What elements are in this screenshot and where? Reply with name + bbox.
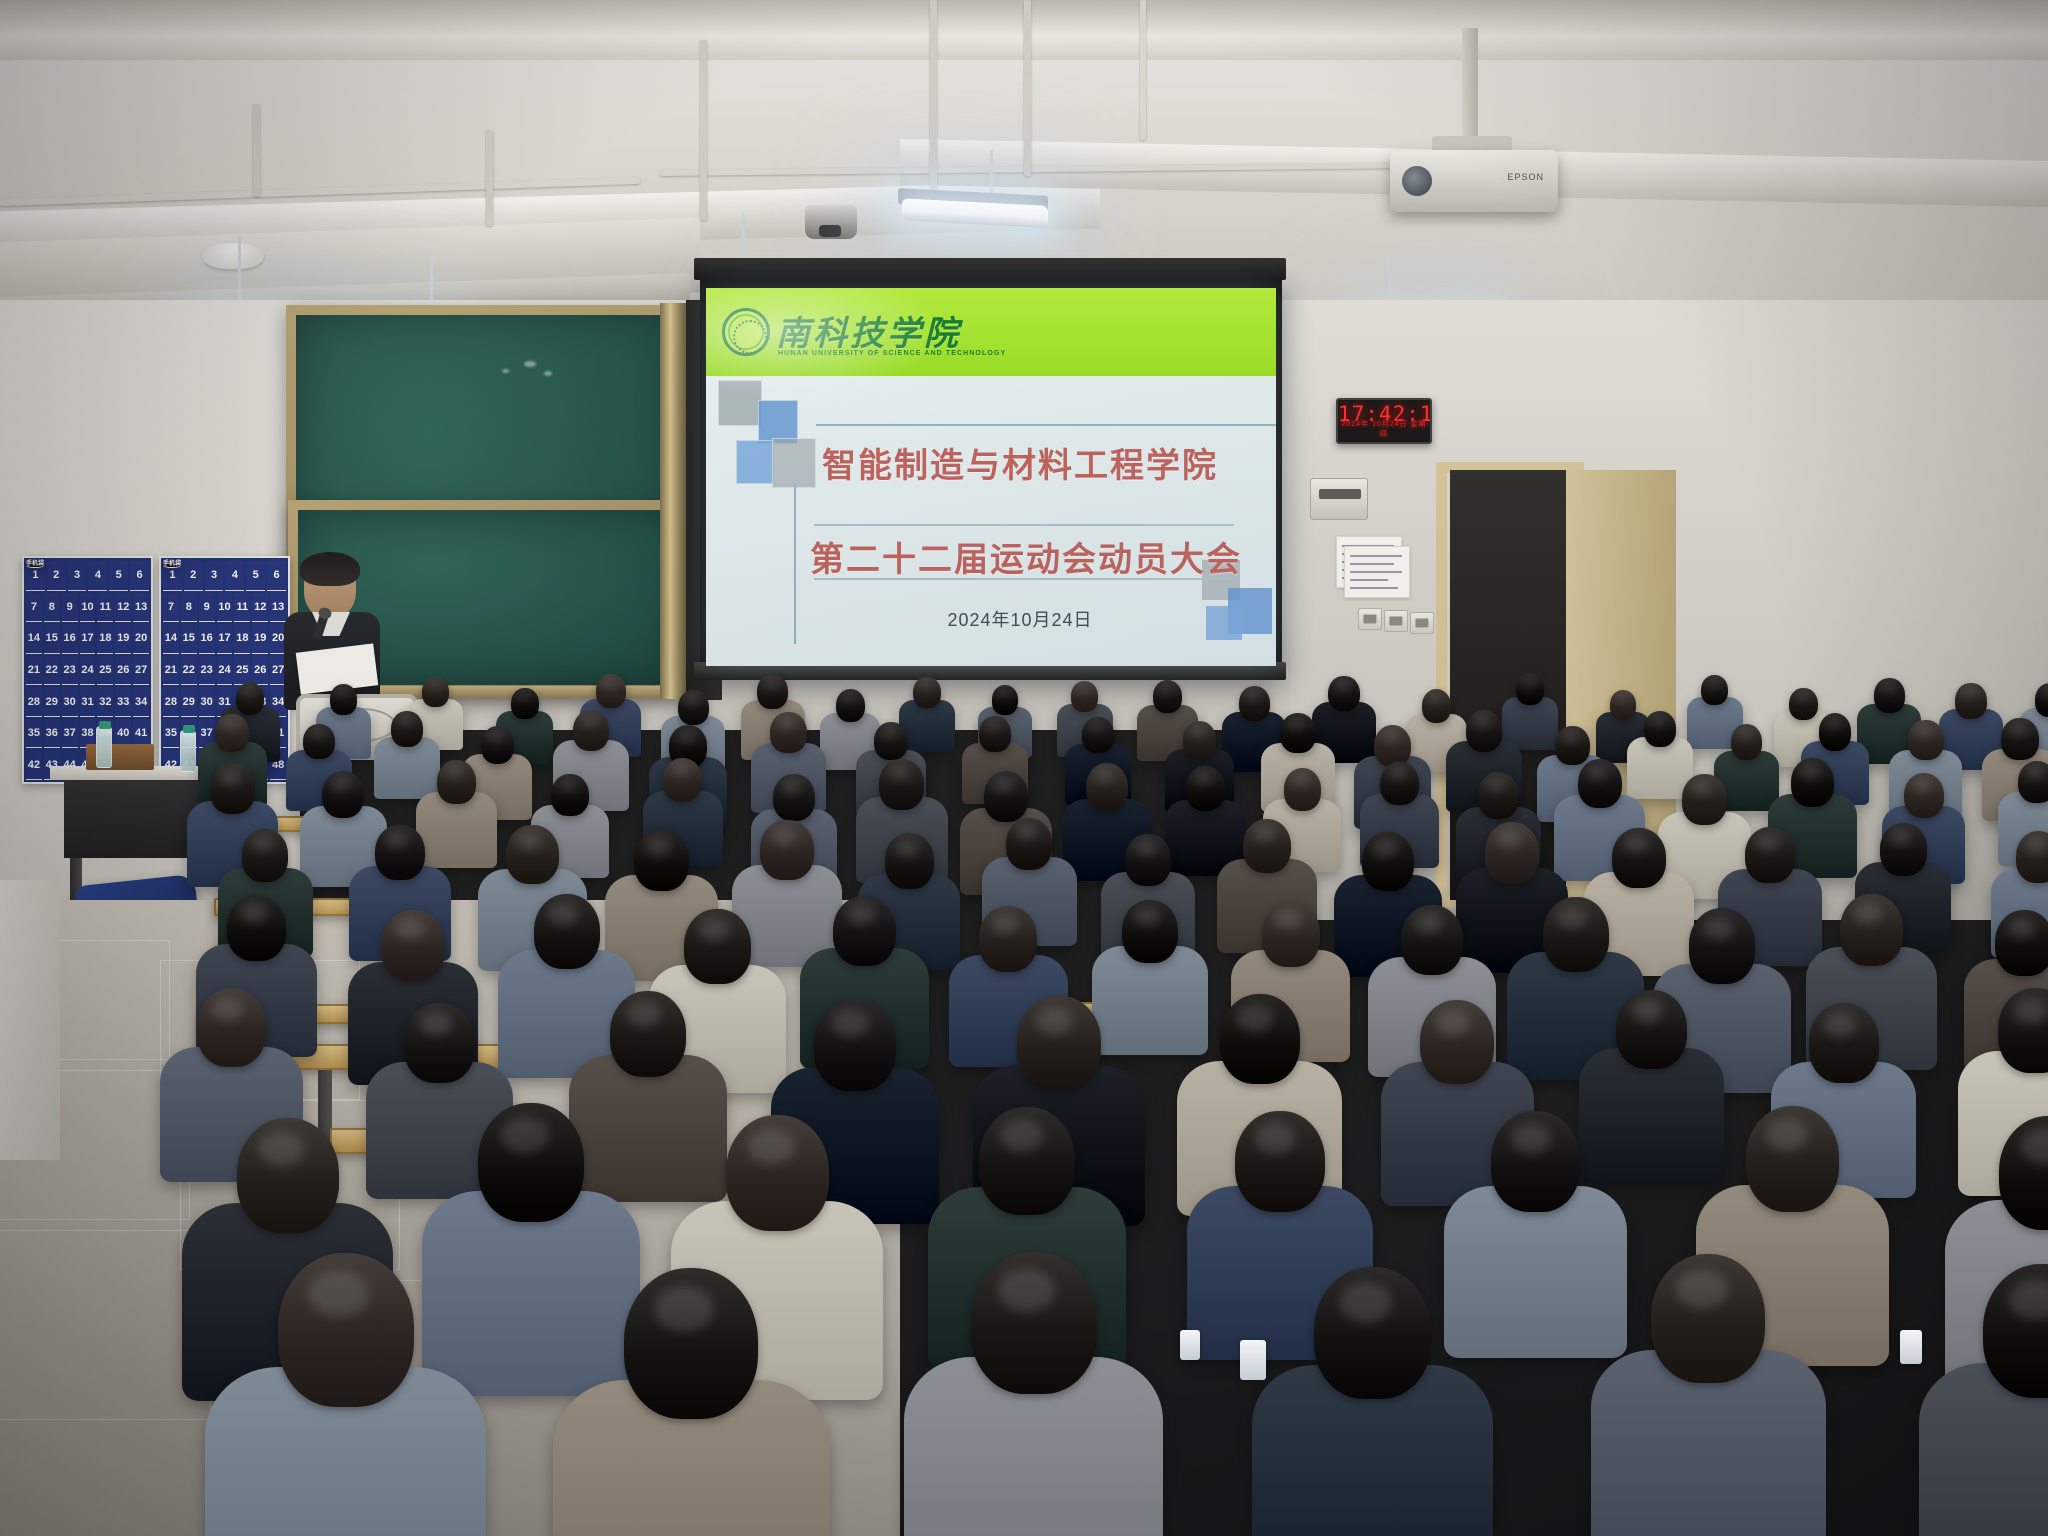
audience-head — [979, 906, 1037, 971]
audience-head-highlight — [847, 904, 875, 925]
pocket-row: 手机袋123456 — [163, 561, 286, 591]
audience-head — [1819, 713, 1852, 750]
audience-head — [391, 711, 423, 747]
audience-head-highlight — [428, 681, 440, 690]
audience-head-highlight — [1676, 1270, 1727, 1309]
slide-title-line-1: 智能制造与材料工程学院 — [810, 438, 1230, 487]
audience-head — [236, 682, 265, 715]
audience-head — [1125, 834, 1171, 886]
pocket-cell[interactable]: 9 — [199, 593, 215, 623]
slide-rule-mid — [814, 524, 1234, 526]
audience-head — [506, 825, 559, 885]
audience-head-highlight — [772, 828, 796, 846]
audience-head-highlight — [212, 998, 243, 1022]
audience-head-highlight — [778, 717, 794, 729]
audience-head — [773, 774, 815, 821]
audience-head — [551, 774, 589, 817]
audience-head-highlight — [1651, 715, 1665, 726]
audience-head-highlight — [1511, 1124, 1551, 1154]
audience-head — [663, 758, 702, 802]
audience-head-highlight — [2008, 918, 2034, 938]
audience-head-highlight — [1916, 725, 1932, 737]
slide-decor-square-blue-2 — [736, 440, 774, 484]
audience-head — [624, 1268, 758, 1419]
audience-head — [1006, 818, 1052, 870]
audience-head — [1380, 762, 1418, 805]
audience-head-highlight — [310, 728, 324, 739]
wall-outlet-3[interactable] — [1410, 612, 1434, 634]
audience-head-highlight — [1382, 730, 1399, 743]
presentation-slide: 南科技学院 HUNAN UNIVERSITY OF SCIENCE AND TE… — [706, 288, 1276, 666]
audience-head-highlight — [842, 693, 855, 703]
audience-head — [913, 677, 940, 708]
pocket-cell[interactable]: 5 — [109, 561, 128, 591]
audience-head — [726, 1115, 829, 1231]
audience-head — [1153, 680, 1182, 713]
wall-outlet-2[interactable] — [1384, 610, 1408, 632]
audience-head — [1701, 675, 1728, 705]
wall-outlet-1[interactable] — [1358, 608, 1382, 630]
university-name-en: HUNAN UNIVERSITY OF SCIENCE AND TECHNOLO… — [778, 350, 1006, 357]
audience-head-highlight — [627, 1001, 661, 1027]
wall-notice-2 — [1344, 546, 1410, 598]
slide-decor-square-gray-1 — [718, 380, 762, 426]
audience-head-highlight — [220, 770, 240, 785]
audience-head — [984, 771, 1029, 822]
conduit-drop-6 — [1140, 0, 1146, 140]
audience-head-highlight — [1800, 764, 1819, 779]
phone-screen-icon — [1240, 1340, 1266, 1380]
audience-head — [242, 829, 288, 881]
audience-head — [2018, 761, 2048, 804]
audience-head-highlight — [1245, 690, 1259, 701]
audience-head — [1243, 819, 1291, 874]
audience-head-highlight — [398, 715, 412, 726]
audience-head — [770, 712, 806, 753]
audience-head — [1314, 1267, 1431, 1399]
pocket-cell[interactable]: 4 — [225, 561, 244, 591]
slide-title-line-2: 第二十二届运动会动员大会 — [810, 532, 1230, 581]
audience-head-highlight — [1000, 1120, 1043, 1152]
pocket-cell[interactable]: 手机袋 — [26, 561, 44, 568]
pocket-cell[interactable]: 4 — [88, 561, 107, 591]
pocket-cell[interactable]: 7 — [163, 593, 179, 623]
audience-head-highlight — [997, 689, 1009, 698]
pocket-cell[interactable]: 2 — [184, 561, 203, 591]
audience-member — [904, 1252, 1163, 1536]
projector: EPSON — [1390, 150, 1558, 212]
audience-head-highlight — [1624, 835, 1648, 853]
clock-date: 2024年 10月24日 星期四 — [1338, 419, 1430, 439]
audience-head-highlight — [1335, 680, 1349, 691]
audience-head — [422, 677, 448, 707]
audience-head — [992, 685, 1018, 715]
audience-head-highlight — [1474, 715, 1491, 727]
audience-head — [1616, 990, 1686, 1069]
audience-head — [381, 910, 444, 981]
audience — [0, 640, 2048, 1536]
audience-head-highlight — [1563, 731, 1579, 743]
audience-head — [1644, 711, 1676, 747]
audience-head-highlight — [223, 719, 238, 730]
audience-head-highlight — [986, 721, 1000, 732]
audience-head — [1401, 905, 1463, 975]
university-seal-icon — [722, 308, 770, 356]
audience-head-highlight — [1135, 840, 1156, 856]
pocket-cell[interactable]: 12 — [252, 593, 268, 623]
audience-head-highlight — [1194, 772, 1212, 785]
pocket-cell[interactable]: 3 — [68, 561, 87, 591]
audience-head — [2001, 718, 2038, 760]
audience-head-highlight — [445, 765, 463, 778]
audience-head-highlight — [1703, 918, 1733, 941]
audience-head — [1122, 900, 1178, 963]
audience-head — [1651, 1254, 1765, 1383]
pocket-cell[interactable]: 9 — [62, 593, 78, 623]
audience-head — [1578, 759, 1622, 809]
audience-head-highlight — [1824, 1013, 1856, 1037]
audience-head — [1086, 763, 1129, 811]
pocket-cell[interactable]: 10 — [217, 593, 233, 623]
audience-head-highlight — [2026, 766, 2043, 779]
audience-head-highlight — [646, 837, 671, 855]
audience-head-highlight — [602, 678, 615, 688]
projection-screen: 南科技学院 HUNAN UNIVERSITY OF SCIENCE AND TE… — [706, 288, 1276, 666]
audience-head-highlight — [1497, 829, 1522, 847]
audience-head — [760, 820, 813, 880]
audience-head — [1745, 827, 1795, 884]
audience-head-highlight — [517, 832, 541, 850]
audience-head-highlight — [882, 727, 897, 738]
slide-rule-vertical — [794, 484, 796, 644]
audience-head — [814, 999, 895, 1091]
audience-head-highlight — [2009, 1280, 2048, 1320]
audience-head-highlight — [1587, 765, 1607, 780]
audience-head — [1262, 902, 1320, 967]
pocket-cell[interactable]: 7 — [26, 593, 42, 623]
audience-head — [481, 726, 515, 764]
audience-head-highlight — [782, 779, 801, 793]
audience-head-highlight — [1237, 1005, 1273, 1032]
audience-head — [330, 684, 357, 714]
audience-head-highlight — [1826, 718, 1841, 729]
audience-head-highlight — [1557, 906, 1587, 928]
classroom-scene: EPSON 南科技学院 HUNAN UNIV — [0, 0, 2048, 1536]
audience-head — [1543, 897, 1609, 972]
phone-screen-icon — [1180, 1330, 1200, 1360]
audience-head — [237, 1118, 339, 1234]
audience-head-highlight — [764, 678, 778, 689]
audience-head — [1183, 721, 1216, 759]
audience-head — [215, 714, 248, 752]
audience-head — [1328, 676, 1359, 711]
audience-head — [303, 724, 335, 760]
pocket-cell[interactable]: 3 — [205, 561, 224, 591]
audience-head-highlight — [1159, 684, 1172, 694]
audience-head-highlight — [1373, 839, 1397, 857]
audience-head-highlight — [548, 903, 578, 926]
audience-head — [478, 1103, 584, 1222]
wall-control-panel[interactable] — [1310, 478, 1368, 520]
audience-head — [573, 710, 609, 751]
projector-brand-label: EPSON — [1507, 172, 1544, 182]
audience-head — [879, 759, 923, 809]
audience-head — [1466, 710, 1503, 752]
pocket-cell[interactable]: 6 — [130, 561, 149, 591]
audience-head — [375, 825, 424, 881]
audience-member — [1252, 1267, 1494, 1536]
audience-head-highlight — [1077, 685, 1089, 694]
audience-head — [1908, 720, 1943, 760]
audience-head-highlight — [1692, 780, 1712, 795]
audience-head — [610, 991, 686, 1077]
audience-head-highlight — [685, 694, 699, 705]
audience-head — [885, 833, 934, 889]
audience-head — [1220, 994, 1300, 1084]
pocket-cell[interactable]: 11 — [234, 593, 250, 623]
pocket-cell[interactable]: 13 — [133, 593, 149, 623]
audience-head — [1731, 724, 1762, 759]
audience-member — [1591, 1254, 1827, 1536]
audience-member — [205, 1253, 486, 1536]
audience-head — [1955, 683, 1986, 718]
audience-head — [757, 674, 788, 709]
audience-head-highlight — [678, 730, 695, 743]
audience-head-highlight — [1707, 679, 1719, 688]
audience-head — [437, 760, 476, 804]
audience-head-highlight — [998, 1269, 1055, 1312]
audience-head — [1682, 774, 1727, 825]
phone-screen-icon — [1900, 1330, 1922, 1364]
university-name-cn: 南科技学院 — [776, 306, 961, 355]
audience-head — [678, 690, 709, 725]
audience-head-highlight — [1854, 903, 1883, 924]
audience-head — [684, 909, 750, 984]
audience-head-highlight — [332, 776, 351, 790]
pocket-cell[interactable]: 12 — [115, 593, 131, 623]
audience-head-highlight — [1415, 913, 1443, 934]
audience-head — [2016, 831, 2048, 883]
projector-lens-icon — [1402, 166, 1432, 196]
audience-head — [1491, 1111, 1580, 1211]
audience-head — [534, 894, 600, 969]
ceiling-camera-icon — [805, 205, 857, 239]
audience-head-highlight — [308, 1271, 369, 1317]
audience-head-highlight — [1632, 999, 1664, 1023]
audience-head-highlight — [1428, 693, 1441, 703]
conduit-drop-4 — [930, 0, 937, 190]
audience-head-highlight — [252, 836, 273, 852]
pocket-cell[interactable]: 11 — [97, 593, 113, 623]
audience-head-highlight — [896, 840, 918, 857]
audience-head-highlight — [1962, 687, 1976, 698]
audience-head-highlight — [1436, 1010, 1469, 1035]
audience-head — [971, 1252, 1097, 1394]
audience-head-highlight — [654, 1286, 714, 1331]
audience-head-highlight — [488, 730, 503, 741]
audience-head-highlight — [1340, 1283, 1393, 1323]
audience-head-highlight — [1292, 773, 1309, 786]
pocket-cell[interactable]: 8 — [44, 593, 60, 623]
pocket-row: 78910111213 — [26, 593, 149, 623]
audience-head — [1746, 1106, 1840, 1212]
audience-head — [1791, 758, 1834, 807]
audience-head-highlight — [336, 688, 348, 697]
projection-screen-case — [694, 258, 1286, 280]
audience-member — [553, 1268, 830, 1536]
conduit-drop-5 — [1024, 0, 1031, 176]
audience-head-highlight — [993, 777, 1013, 792]
audience-head-highlight — [2026, 837, 2047, 852]
audience-head — [979, 716, 1011, 752]
audience-head-highlight — [559, 779, 576, 792]
presenter-hair — [300, 552, 360, 586]
audience-head — [1284, 768, 1322, 811]
audience-head-highlight — [395, 918, 423, 939]
audience-head-highlight — [2010, 723, 2027, 736]
audience-head-highlight — [1389, 767, 1406, 780]
audience-head — [1071, 681, 1098, 712]
audience-head-highlight — [1756, 834, 1779, 851]
audience-head-highlight — [1288, 718, 1304, 730]
pocket-cell[interactable]: 手机袋 — [163, 561, 181, 568]
audience-head-highlight — [2042, 687, 2048, 697]
audience-head-highlight — [1095, 769, 1114, 783]
slide-rule-top — [816, 424, 1276, 426]
audience-head — [322, 771, 364, 818]
audience-head — [836, 689, 865, 722]
audience-head — [1904, 773, 1944, 818]
pocket-cell[interactable]: 5 — [246, 561, 265, 591]
audience-head-highlight — [1016, 824, 1037, 840]
audience-head-highlight — [1190, 726, 1205, 737]
audience-head — [1880, 823, 1927, 876]
audience-head-highlight — [889, 765, 909, 780]
audience-head — [1374, 725, 1411, 767]
audience-head-highlight — [919, 681, 931, 690]
audience-head — [511, 688, 539, 719]
audience-head-highlight — [748, 1129, 794, 1164]
audience-head-highlight — [420, 1012, 452, 1036]
audience-head — [979, 1107, 1075, 1215]
slide-header-band: 南科技学院 HUNAN UNIVERSITY OF SCIENCE AND TE… — [706, 288, 1276, 376]
conduit-drop-1 — [253, 104, 260, 196]
audience-head-highlight — [242, 686, 255, 696]
audience-head — [278, 1253, 414, 1407]
pocket-cell[interactable]: 8 — [181, 593, 197, 623]
audience-head — [1998, 988, 2048, 1073]
audience-head-highlight — [259, 1132, 305, 1167]
audience-head — [634, 830, 689, 892]
audience-head — [1420, 1000, 1494, 1084]
audience-head-highlight — [240, 903, 266, 923]
audience-head-highlight — [1275, 910, 1301, 930]
audience-head — [1280, 713, 1316, 754]
slide-date: 2024年10月24日 — [810, 606, 1230, 632]
audience-head — [1995, 910, 2048, 976]
audience-head-highlight — [1134, 907, 1159, 926]
conduit-drop-3 — [700, 40, 707, 220]
audience-head — [1082, 717, 1114, 753]
audience-head-highlight — [1089, 722, 1103, 733]
smoke-detector-icon — [202, 243, 264, 269]
audience-head-highlight — [1254, 825, 1276, 841]
audience-head — [1362, 832, 1414, 891]
audience-head — [1612, 828, 1666, 889]
audience-head — [1478, 772, 1519, 819]
pocket-row: 78910111213 — [163, 593, 286, 623]
audience-head — [1809, 1003, 1879, 1082]
audience-head-highlight — [1890, 829, 1911, 845]
audience-head-highlight — [1766, 1119, 1808, 1151]
audience-head-highlight — [501, 1117, 549, 1153]
audience-head — [874, 722, 908, 760]
audience-head-highlight — [2021, 1129, 2048, 1163]
audience-head-highlight — [2014, 998, 2048, 1023]
audience-head-highlight — [1255, 1123, 1295, 1153]
audience-head — [227, 895, 286, 961]
digital-wall-clock: 17:42:17 2024年 10月24日 星期四 — [1336, 398, 1432, 444]
audience-head-highlight — [581, 715, 597, 727]
pocket-row: 手机袋123456 — [26, 561, 149, 591]
audience-head — [1235, 1111, 1325, 1212]
audience-head — [1485, 822, 1539, 883]
audience-head — [210, 763, 255, 813]
pocket-cell[interactable]: 10 — [80, 593, 96, 623]
audience-head-highlight — [517, 692, 529, 701]
audience-head-highlight — [1036, 1007, 1073, 1035]
audience-head — [596, 674, 626, 708]
audience-head — [1017, 996, 1100, 1090]
audience-head-highlight — [1913, 778, 1931, 792]
audience-head-highlight — [386, 832, 408, 849]
audience-head-highlight — [1738, 729, 1752, 740]
audience-head — [833, 896, 895, 967]
audience-head-highlight — [1487, 778, 1506, 792]
audience-head-highlight — [992, 914, 1018, 934]
audience-head-highlight — [699, 918, 729, 940]
audience-head-highlight — [672, 763, 690, 776]
audience-head-highlight — [832, 1010, 869, 1038]
audience-head — [1689, 908, 1756, 983]
audience-head — [404, 1003, 475, 1083]
audience-head — [1186, 766, 1226, 811]
conduit-drop-2 — [486, 130, 493, 226]
pocket-cell[interactable]: 2 — [47, 561, 66, 591]
audience-head-highlight — [1796, 691, 1809, 701]
audience-head-highlight — [1881, 683, 1895, 693]
audience-head — [1516, 674, 1544, 705]
audience-member — [1919, 1264, 2048, 1536]
audience-head — [1840, 894, 1903, 966]
audience-head-highlight — [1522, 678, 1534, 687]
audience-head — [197, 988, 267, 1067]
audience-head — [1874, 678, 1905, 713]
audience-head-highlight — [1616, 693, 1628, 702]
